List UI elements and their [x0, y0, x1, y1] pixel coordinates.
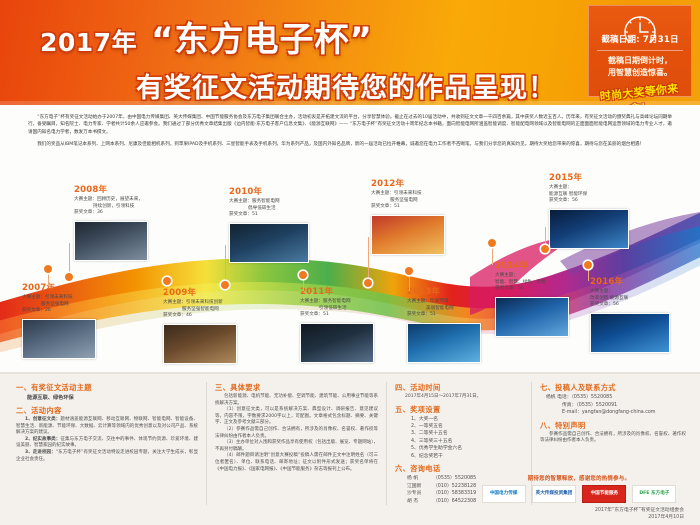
section-2-item-1: 1、创意征文类：题材涵盖能源互联网、移动互联网、物联网、智能电网、智能设备、智慧… [16, 417, 198, 437]
event-photo [163, 324, 237, 364]
poster-root: 2017年 “东方电子杯” 有奖征文活动期待您的作品呈现！ 截稿日期: 7月31… [0, 0, 700, 525]
event-theme-line-1: 大赛主题：回顾历史，展望未来， [74, 197, 148, 204]
timeline-dot-2014[interactable] [488, 239, 496, 247]
badge-divider [597, 50, 683, 51]
event-year: 2008年 [74, 185, 148, 196]
event-year: 2016年 [590, 277, 670, 288]
title-subtitle: 有奖征文活动期待您的作品呈现！ [40, 66, 560, 105]
event-theme-line-1: 大赛主题：引领未来科技 [371, 191, 445, 198]
china-energy-conservation-logo: 中国节能服务 [582, 485, 626, 503]
section-3-req-1: （1）创意征文类，可以是系统解决方案、典型设计、调研报告、意见建议等，内容不限，… [215, 407, 378, 427]
section-2-item-3: 3、走进校园：“东方电子杯”有奖征文活动特设走进校园专题，关注大学生成长，彰显企… [16, 450, 198, 463]
timeline-event-2015[interactable]: 2015年 大赛主题： 能源互联 智能环保 获奖文章：56 [549, 173, 629, 249]
yingda-media-logo: 英大传媒投资集团 [532, 485, 577, 503]
timeline-stem [368, 237, 369, 283]
timeline-stem [225, 245, 226, 285]
title-main: “东方电子杯” [151, 12, 373, 61]
event-count: 获奖文章：56 [590, 302, 670, 309]
sponsor-strip: 期待您的智慧释放，感谢您的热情参与。 中国电力传媒 英大传媒投资集团 中国节能服… [470, 474, 688, 521]
section-2-heading: 二、活动内容 [16, 405, 198, 417]
details-panel: 一、有奖征文活动主题 能源互联、绿色环保 二、活动内容 1、创意征文类：题材涵盖… [0, 372, 700, 525]
timeline-event-2014[interactable]: 2014年 大赛主题： 智能、智慧、绿色、梦想 获奖文章：56 [495, 261, 569, 337]
sponsor-tagline: 期待您的智慧释放，感谢您的热情参与。 [470, 474, 688, 482]
prize-item: 3、二等奖十五名 [395, 430, 523, 437]
timeline-dot-2012[interactable] [364, 279, 372, 287]
prize-item: 6、纪念奖若干 [395, 453, 523, 460]
timeline-stem [492, 247, 493, 265]
timeline-stem [48, 273, 49, 285]
section-4-heading: 四、活动时间 [395, 382, 523, 394]
section-5-heading: 五、奖项设置 [395, 404, 523, 416]
timeline-dot-2015[interactable] [541, 245, 549, 253]
timeline-dot-2013[interactable] [405, 267, 413, 275]
header-banner: 2017年 “东方电子杯” 有奖征文活动期待您的作品呈现！ 截稿日期: 7月31… [0, 0, 700, 105]
event-photo [22, 319, 96, 359]
details-column-1: 一、有奖征文活动主题 能源互联、绿色环保 二、活动内容 1、创意征文类：题材涵盖… [16, 382, 206, 505]
section-3-req-4: （4）邮件题目请注明“创意大赛投稿”投稿人需在邮件正文中注明姓名（可三位者匿名）… [215, 453, 378, 473]
section-2-item-2: 2、纪实故事类：征集与东方电子交流、交往中的事件、体现节约资源、珍爱环境、建设美… [16, 437, 198, 450]
event-count: 获奖文章：51 [300, 312, 374, 319]
section-8-heading: 八、特别声明 [540, 420, 686, 432]
timeline-dot-2010[interactable] [221, 281, 229, 289]
timeline-event-2013[interactable]: 2013年 大赛主题：珍爱环境 美丽智能电网 获奖文章：51 [407, 287, 481, 363]
timeline-stem [409, 275, 410, 291]
timeline-stem [303, 279, 304, 291]
deadline-badge: 截稿日期: 7月31日 截稿日期倒计时， 用智慧创造惊喜。 时尚大奖等你来拿！ [588, 5, 692, 97]
timeline-event-2008[interactable]: 2008年 大赛主题：回顾历史，展望未来， 持续创新，引领科技 获奖文章：36 [74, 185, 148, 261]
section-7-heading: 七、投稿人及联系方式 [540, 382, 686, 394]
event-photo [371, 215, 445, 255]
submitter-fax: 传真：（0535）5520091 [540, 402, 686, 410]
event-photo [74, 221, 148, 261]
timeline-dot-2007[interactable] [44, 265, 52, 273]
section-3-intro: 包括新能源、电机节能、无功补偿、空调节能、建筑节能、公用事业节能等系统解决方案。 [215, 394, 378, 407]
timeline-stem [69, 243, 70, 277]
event-year: 2013年 [407, 287, 481, 298]
title-year: 2017年 [40, 23, 137, 59]
event-count: 获奖文章：51 [229, 212, 309, 219]
section-8-body: 参赛作品需自己创作、合法拥有，所涉及的肖像权、名誉权、著作权等法律纠纷由作者本人… [540, 432, 686, 445]
intro-paragraph-1: “东方电子”杯有奖征文活动始办于2007年，由中国电力传媒集团、英大传媒集团、中… [28, 114, 672, 136]
event-year: 2012年 [371, 179, 445, 190]
event-photo [590, 313, 670, 353]
event-count: 获奖文章：56 [495, 286, 569, 293]
timeline-event-2010[interactable]: 2010年 大赛主题：服务智能电网 倡导低碳生活 获奖文章：51 [229, 187, 309, 263]
event-theme-label: 大赛主题： [495, 273, 569, 280]
submitter-tel: 杨帆 电话：（0535）5520085 [540, 394, 686, 402]
intro-paragraph-2: 我们的奖品从IBM笔记本系列、上网本系列、尼康及佳能相机系列，到苹果IPAD及手… [28, 141, 672, 148]
section-1-heading: 一、有奖征文活动主题 [16, 382, 198, 394]
timeline-event-2009[interactable]: 2009年 大赛主题：引领未来科技创新 服务坚强智能电网 获奖文章：46 [163, 288, 237, 364]
timeline-event-2016[interactable]: 2016年 大赛主题： 改革创新 能源互联 获奖文章：56 [590, 277, 670, 353]
china-electric-power-media-logo: 中国电力传媒 [482, 485, 526, 503]
timeline-event-2011[interactable]: 2011年 大赛主题：服务智能电网 引领低碳生活 获奖文章：51 [300, 287, 374, 363]
event-year: 2007年 [22, 283, 96, 294]
event-theme-label: 大赛主题： [549, 185, 629, 192]
event-count: 获奖文章：56 [549, 198, 629, 205]
organizer-date: 2017年4月10日 [470, 514, 688, 521]
event-year: 2011年 [300, 287, 374, 298]
section-4-body: 2017年4月15日～2017年7月31日。 [395, 394, 523, 401]
timeline-event-2007[interactable]: 2007年 大赛主题：引领未来科技 服务坚强电网 获奖文章：26 [22, 283, 96, 359]
event-photo [407, 323, 481, 363]
intro-text: “东方电子”杯有奖征文活动始办于2007年，由中国电力传媒集团、英大传媒集团、中… [28, 114, 672, 149]
section-1-body: 能源互联、绿色环保 [16, 394, 198, 402]
timeline-event-2012[interactable]: 2012年 大赛主题：引领未来科技 服务坚强电网 获奖文章：51 [371, 179, 445, 255]
timeline-stem [588, 269, 589, 281]
section-3-req-3: （3）主办单位对入围和获奖作品享有使用权（包括出版、展览、专题网站），不再另付稿… [215, 440, 378, 453]
event-count: 获奖文章：36 [74, 210, 148, 217]
event-theme-line-1: 大赛主题：引领未来科技创新 [163, 300, 237, 307]
event-photo [495, 297, 569, 337]
organizer-line: 2017年“东方电子杯”有奖征文活动组委会 [470, 507, 688, 514]
event-count: 获奖文章：46 [163, 313, 237, 320]
prize-item: 5、优秀学生助学金六名 [395, 445, 523, 452]
event-year: 2010年 [229, 187, 309, 198]
section-3-req-2: （2）参赛作品需自己创作、合法拥有，所涉及的肖像权、名誉权、著作权等法律纠纷由作… [215, 427, 378, 440]
event-theme-line-1: 大赛主题：珍爱环境 [407, 299, 481, 306]
timeline-section: 2007年 大赛主题：引领未来科技 服务坚强电网 获奖文章：26 2008年 大… [0, 165, 700, 370]
event-theme-line-1: 大赛主题：引领未来科技 [22, 295, 96, 302]
badge-slogan: 时尚大奖等你来拿！ [592, 79, 689, 105]
details-column-2: 三、具体要求 包括新能源、电机节能、无功补偿、空调节能、建筑节能、公用事业节能等… [206, 382, 386, 505]
event-theme-line-1: 大赛主题：服务智能电网 [300, 299, 374, 306]
timeline-dot-2008[interactable] [65, 273, 73, 281]
prize-item: 2、一等奖五名 [395, 423, 523, 430]
event-year: 2009年 [163, 288, 237, 299]
badge-line-1: 截稿日期倒计时， [593, 55, 687, 67]
prize-item: 4、三等奖三十五名 [395, 438, 523, 445]
event-photo [549, 209, 629, 249]
event-theme-label: 大赛主题： [590, 289, 670, 296]
poster-title: 2017年 “东方电子杯” 有奖征文活动期待您的作品呈现！ [40, 12, 560, 105]
submitter-email[interactable]: E-mail：yangfan@dongfang-china.com [540, 409, 686, 417]
event-count: 获奖文章：26 [22, 308, 96, 315]
event-theme-line-1: 大赛主题：服务智能电网 [229, 199, 309, 206]
event-year: 2014年 [495, 261, 569, 272]
timeline-dot-2016[interactable] [584, 261, 592, 269]
timeline-dot-2011[interactable] [299, 271, 307, 279]
event-year: 2015年 [549, 173, 629, 184]
timeline-dot-2009[interactable] [163, 277, 171, 285]
badge-line-2: 用智慧创造惊喜。 [593, 67, 687, 79]
dongfang-electronics-logo: DFE 东方电子 [632, 485, 676, 503]
prize-item: 1、大奖一名 [395, 416, 523, 423]
event-count: 获奖文章：51 [407, 312, 481, 319]
event-photo [229, 223, 309, 263]
event-count: 获奖文章：51 [371, 204, 445, 211]
deadline-date: 截稿日期: 7月31日 [593, 33, 687, 45]
section-3-heading: 三、具体要求 [215, 382, 378, 394]
event-photo [300, 323, 374, 363]
